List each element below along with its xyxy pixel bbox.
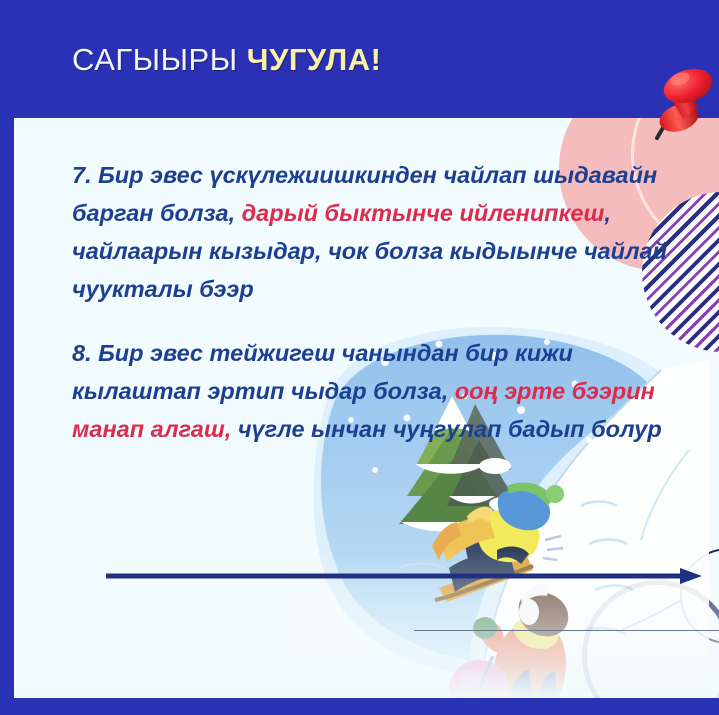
body-text-block: 7. Бир эвес үскүлежиишкинден чайлап шыда…	[72, 156, 672, 448]
page-title-part-one: САГЫЫРЫ	[72, 42, 247, 77]
header-band: САГЫЫРЫ ЧУГУЛА!	[0, 0, 719, 118]
content-card: 7. Бир эвес үскүлежиишкинден чайлап шыда…	[14, 118, 719, 698]
page-title: САГЫЫРЫ ЧУГУЛА!	[72, 42, 382, 78]
left-border-rail	[0, 118, 14, 715]
footer-band	[0, 698, 719, 715]
slide-canvas: САГЫЫРЫ ЧУГУЛА!	[0, 0, 719, 715]
paragraph-7-highlight: дарый быктынче ийленипкеш	[242, 200, 605, 226]
paragraph-8-segment-3: чүгле ынчан чуңгулап бадып болур	[231, 416, 661, 442]
paragraph-7: 7. Бир эвес үскүлежиишкинден чайлап шыда…	[72, 156, 672, 308]
right-arrow-divider	[104, 566, 704, 586]
pushpin-icon	[644, 62, 718, 152]
thin-horizontal-rule	[414, 630, 719, 631]
page-title-part-two: ЧУГУЛА!	[247, 42, 382, 77]
paragraph-8: 8. Бир эвес тейжигеш чанындан бир кижи к…	[72, 334, 672, 448]
